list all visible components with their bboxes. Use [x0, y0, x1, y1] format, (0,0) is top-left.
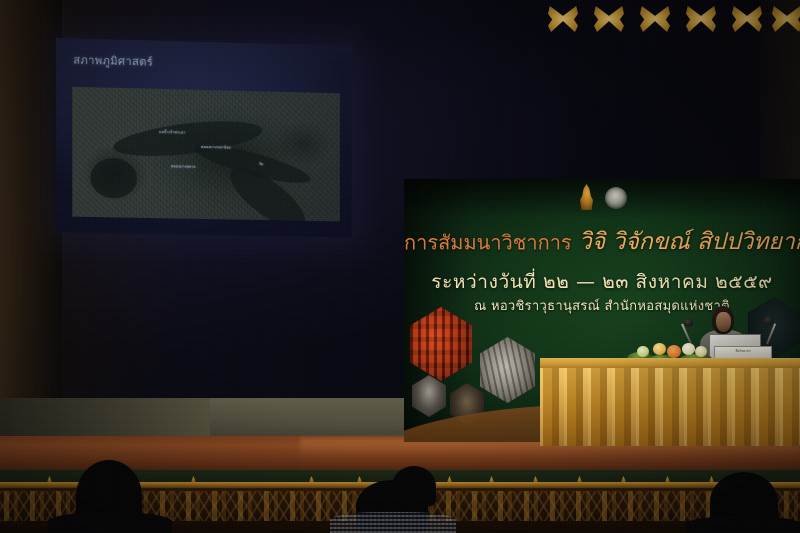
- microphone-right-head: [764, 316, 773, 325]
- audience-shoulder-2-checkered: [330, 512, 456, 533]
- royal-emblem-icon: [578, 184, 596, 210]
- national-library-seal-icon: [605, 187, 627, 209]
- projection-screen: สภาพภูมิศาสตร์ แม่น้ำเจ้าพระยา คลองบางกอ…: [56, 38, 352, 237]
- banner-title-line: การสัมมนาวิชาการวิจิ วิจักขณ์ สิปปวิทยาก…: [404, 231, 800, 254]
- slide-satellite-map: แม่น้ำเจ้าพระยา คลองบางกอกน้อย คลองบางหล…: [72, 87, 340, 222]
- banner-title-fancy: วิจิ วิจักขณ์ สิปปวิทยาการ: [579, 229, 800, 255]
- microphone-left-head: [684, 318, 693, 327]
- auditorium-photo: สภาพภูมิศาสตร์ แม่น้ำเจ้าพระยา คลองบางกอ…: [0, 0, 800, 533]
- audience-shoulder-1: [48, 512, 172, 533]
- banner-venue-line: ณ หอวชิราวุธานุสรณ์ สำนักหอสมุดแห่งชาติ: [404, 295, 800, 316]
- banner-title-plain: การสัมมนาวิชาการ: [404, 231, 572, 255]
- map-label-3: วัด: [259, 161, 264, 167]
- map-label-1: คลองบางกอกน้อย: [201, 144, 231, 151]
- banner-date-line: ระหว่างวันที่ ๒๒ — ๒๓ สิงหาคม ๒๕๕๙: [404, 267, 800, 297]
- table-skirt-pleats: [540, 368, 800, 446]
- audience-head-3: [392, 466, 436, 506]
- podium-table-skirt: [540, 368, 800, 446]
- map-forest-patch: [90, 158, 136, 199]
- banner-emblems: [404, 184, 800, 210]
- map-label-0: แม่น้ำเจ้าพระยา: [159, 129, 186, 136]
- hexagon-historic-sepia-photo: [480, 337, 535, 403]
- speaker-face: [716, 312, 731, 332]
- audience-shoulder-4: [686, 516, 800, 533]
- map-label-2: คลองบางหลวง: [171, 163, 196, 170]
- slide-title: สภาพภูมิศาสตร์: [73, 51, 153, 71]
